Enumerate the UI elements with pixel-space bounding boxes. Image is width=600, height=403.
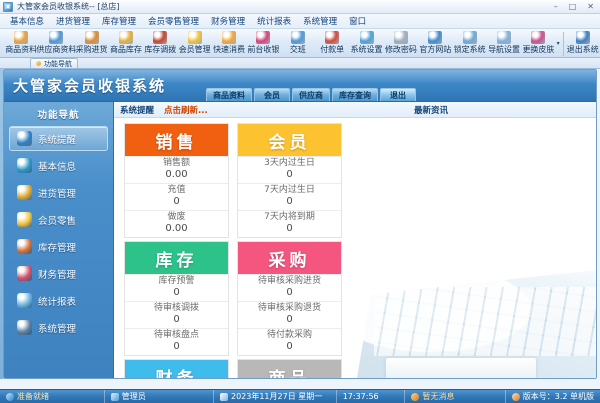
toolbar-button-1[interactable]: 供应商资料	[38, 30, 74, 55]
tile-row[interactable]: 7天内将到期0	[238, 210, 341, 237]
application-window: ▣ 大管家会员收银系统-- [总店] – □ ✕ 基本信息进货管理库存管理会员零…	[0, 0, 600, 403]
toolbar-label-8: 交班	[290, 44, 306, 55]
news-pane	[352, 118, 596, 378]
tile-row-label: 7天内将到期	[264, 212, 315, 223]
settings-icon	[360, 31, 374, 44]
tile-row-value: 0.00	[165, 169, 187, 181]
toolbar-label-4: 库存调拨	[144, 44, 176, 55]
maximize-button[interactable]: □	[569, 3, 577, 11]
globe-icon	[428, 31, 442, 44]
sidebar-item-label-5: 财务管理	[38, 267, 76, 281]
dashboard-panes: 销售销售额0.00充值0做废0.00会员3天内过生日07天内过生日07天内将到期…	[114, 118, 596, 378]
tile-row-value: 0.00	[165, 223, 187, 235]
database-icon	[17, 158, 32, 173]
sidebar-item-label-1: 基本信息	[38, 159, 76, 173]
main-toolbar: 商品资料供应商资料采购进货商品库存库存调拨会员管理快速消费前台收银交班付款单系统…	[0, 29, 600, 58]
sidebar-item-label-3: 会员零售	[38, 213, 76, 227]
tile-grid: 销售销售额0.00充值0做废0.00会员3天内过生日07天内过生日07天内将到期…	[124, 123, 352, 379]
toolbar-label-10: 系统设置	[351, 44, 383, 55]
sidebar-item-6[interactable]: 统计报表	[9, 288, 108, 313]
quick-sale-icon	[222, 31, 236, 44]
dashboard-tile-4[interactable]: 财务待审核收入0待审核支出0待审核付款0	[124, 359, 229, 379]
folder-in-icon	[17, 185, 32, 200]
toolbar-button-9[interactable]: 付款单	[315, 30, 349, 55]
status-date: 2023年11月27日 星期一	[214, 390, 337, 403]
tile-row-value: 0	[173, 341, 179, 353]
sidebar-item-label-0: 系统提醒	[38, 132, 76, 146]
content-area: 系统提醒 点击刷新... 最新资讯 销售销售额0.00充值0做废0.00会员3天…	[114, 102, 596, 378]
mdi-tab-icon	[36, 61, 41, 66]
news-label: 最新资讯	[414, 104, 448, 116]
member2-icon	[17, 212, 32, 227]
toolbar-button-11[interactable]: 修改密码	[384, 30, 418, 55]
toolbar-button-14[interactable]: 导航设置	[487, 30, 521, 55]
version-icon	[512, 393, 520, 401]
tile-title-2: 库存	[125, 242, 228, 274]
section-label: 系统提醒	[120, 104, 154, 116]
sidebar-item-5[interactable]: 财务管理	[9, 261, 108, 286]
toolbar-label-9: 付款单	[320, 44, 344, 55]
refresh-link[interactable]: 点击刷新...	[164, 104, 208, 116]
banner-tab-3[interactable]: 库存查询	[332, 88, 378, 101]
tile-row[interactable]: 3天内过生日0	[238, 156, 341, 183]
transfer-icon	[153, 31, 167, 44]
tile-row-label: 库存预警	[158, 276, 194, 287]
tile-row[interactable]: 待审核采购退货0	[238, 301, 341, 328]
status-user-text: 管理员	[122, 391, 146, 402]
tile-row[interactable]: 充值0	[125, 183, 228, 210]
toolbar-button-2[interactable]: 采购进货	[74, 30, 108, 55]
banner-tab-1[interactable]: 会员	[254, 88, 290, 101]
toolbar-label-13: 锁定系统	[454, 44, 486, 55]
skin-icon	[531, 31, 545, 44]
warehouse-icon	[17, 239, 32, 254]
toolbar-label-1: 供应商资料	[36, 44, 76, 55]
status-bar: 准备就绪 管理员 2023年11月27日 星期一 17:37:56 暂无消息 版…	[0, 389, 600, 403]
cashier-icon	[256, 31, 270, 44]
dashboard-tile-1[interactable]: 会员3天内过生日07天内过生日07天内将到期0	[237, 123, 342, 238]
tile-rows-3: 待审核采购进货0待审核采购退货0待付款采购0	[238, 274, 341, 355]
sidebar-item-label-2: 进货管理	[38, 186, 76, 200]
purchase-icon	[85, 31, 99, 44]
toolbar-label-11: 修改密码	[385, 44, 417, 55]
tile-title-0: 销售	[125, 124, 228, 156]
tile-row-value: 0	[286, 287, 292, 299]
content-toolbar: 系统提醒 点击刷新... 最新资讯	[114, 102, 596, 118]
payment-icon	[325, 31, 339, 44]
toolbar-button-12[interactable]: 官方网站	[418, 30, 452, 55]
toolbar-label-5: 会员管理	[179, 44, 211, 55]
menu-item-6[interactable]: 系统管理	[297, 14, 343, 28]
mdi-tab-strip: 功能导航	[0, 58, 600, 69]
user-icon	[111, 393, 119, 401]
sidebar-item-label-4: 库存管理	[38, 240, 76, 254]
mdi-tab-function-nav[interactable]: 功能导航	[30, 58, 78, 68]
tile-row-label: 3天内过生日	[264, 158, 315, 169]
tile-row-label: 做废	[167, 212, 185, 223]
sidebar-item-0[interactable]: 系统提醒	[9, 126, 108, 151]
toolbar-label-16: 退出系统	[567, 44, 599, 55]
toolbar-button-10[interactable]: 系统设置	[349, 30, 383, 55]
status-ready-text: 准备就绪	[17, 391, 49, 402]
minimize-button[interactable]: –	[554, 3, 558, 11]
status-date-text: 2023年11月27日 星期一	[231, 391, 322, 402]
tile-row-label: 7天内过生日	[264, 185, 315, 196]
status-user: 管理员	[105, 390, 214, 403]
toolbar-label-7: 前台收银	[247, 44, 279, 55]
toolbar-label-14: 导航设置	[488, 44, 520, 55]
page-title: 大管家会员收银系统	[4, 75, 166, 96]
toolbar-label-12: 官方网站	[419, 44, 451, 55]
status-version: 版本号：3.2 单机版	[506, 390, 600, 403]
tile-title-4: 财务	[125, 360, 228, 379]
mdi-tab-label: 功能导航	[44, 59, 72, 69]
nav-settings-icon	[497, 31, 511, 44]
tile-row-label: 销售额	[163, 158, 190, 169]
lock-icon	[463, 31, 477, 44]
tile-rows-0: 销售额0.00充值0做废0.00	[125, 156, 228, 237]
sidebar-item-1[interactable]: 基本信息	[9, 153, 108, 178]
toolbar-label-0: 商品资料	[5, 44, 37, 55]
finance-icon	[17, 266, 32, 281]
toolbar-separator	[563, 32, 564, 56]
toolbar-button-4[interactable]: 库存调拨	[143, 30, 177, 55]
status-time: 17:37:56	[337, 390, 406, 403]
exit-icon	[576, 31, 590, 44]
menu-item-0[interactable]: 基本信息	[4, 14, 50, 28]
status-time-text: 17:37:56	[343, 392, 379, 401]
tiles-container: 销售销售额0.00充值0做废0.00会员3天内过生日07天内过生日07天内将到期…	[114, 118, 352, 378]
close-button[interactable]: ✕	[587, 3, 594, 11]
keyboard-watermark-image	[356, 269, 596, 378]
stock-icon	[119, 31, 133, 44]
toolbar-button-15[interactable]: 更换皮肤	[521, 30, 555, 55]
toolbar-button-8[interactable]: 交班	[281, 30, 315, 55]
toolbar-label-15: 更换皮肤	[522, 44, 554, 55]
tile-row[interactable]: 待审核采购进货0	[238, 274, 341, 301]
tile-row-label: 待审核采购进货	[258, 276, 321, 287]
menu-bar: 基本信息进货管理库存管理会员零售管理财务管理统计报表系统管理窗口	[0, 14, 600, 29]
report-icon	[17, 293, 32, 308]
toolbar-button-16[interactable]: 退出系统	[566, 30, 600, 55]
window-controls: – □ ✕	[554, 0, 594, 14]
tile-row[interactable]: 做废0.00	[125, 210, 228, 237]
tile-row-value: 0	[286, 196, 292, 208]
banner-tabs: 商品资料会员供应商库存查询退出	[204, 88, 596, 101]
sidebar-item-4[interactable]: 库存管理	[9, 234, 108, 259]
tile-row-value: 0	[286, 169, 292, 181]
tile-rows-1: 3天内过生日07天内过生日07天内将到期0	[238, 156, 341, 237]
sidebar-item-7[interactable]: 系统管理	[9, 315, 108, 340]
tile-row[interactable]: 待付款采购0	[238, 328, 341, 355]
sidebar-item-label-6: 统计报表	[38, 294, 76, 308]
title-bar: ▣ 大管家会员收银系统-- [总店] – □ ✕	[0, 0, 600, 14]
toolbar-label-2: 采购进货	[76, 44, 108, 55]
toolbar-button-0[interactable]: 商品资料	[4, 30, 38, 55]
banner-tab-2[interactable]: 供应商	[292, 88, 330, 101]
skin-dropdown-caret[interactable]: ▾	[557, 40, 560, 47]
sidebar: 功能导航 系统提醒基本信息进货管理会员零售库存管理财务管理统计报表系统管理	[4, 102, 114, 378]
tile-row-value: 0	[173, 314, 179, 326]
tile-title-1: 会员	[238, 124, 341, 156]
function-nav-window: 大管家会员收银系统 ◀▶▪✕ 商品资料会员供应商库存查询退出 功能导航 系统提醒…	[3, 69, 597, 379]
sidebar-list: 系统提醒基本信息进货管理会员零售库存管理财务管理统计报表系统管理	[9, 126, 108, 340]
tile-row-value: 0	[286, 314, 292, 326]
tile-row-value: 0	[286, 341, 292, 353]
tile-row-value: 0	[173, 287, 179, 299]
tile-row-label: 待审核盘点	[154, 330, 199, 341]
toolbar-button-5[interactable]: 会员管理	[178, 30, 212, 55]
tile-row[interactable]: 库存预警0	[125, 274, 228, 301]
sidebar-item-3[interactable]: 会员零售	[9, 207, 108, 232]
toolbar-button-7[interactable]: 前台收银	[246, 30, 280, 55]
toolbar-label-6: 快速消费	[213, 44, 245, 55]
sidebar-item-label-7: 系统管理	[38, 321, 76, 335]
password-icon	[394, 31, 408, 44]
tile-title-3: 采购	[238, 242, 341, 274]
tile-row[interactable]: 销售额0.00	[125, 156, 228, 183]
tile-row-label: 待审核采购退货	[258, 303, 321, 314]
toolbar-button-6[interactable]: 快速消费	[212, 30, 246, 55]
tile-row[interactable]: 待审核盘点0	[125, 328, 228, 355]
menu-item-3[interactable]: 会员零售管理	[142, 14, 205, 28]
tile-row[interactable]: 待审核调拨0	[125, 301, 228, 328]
menu-item-1[interactable]: 进货管理	[50, 14, 96, 28]
goods-icon	[14, 31, 28, 44]
tile-row[interactable]: 7天内过生日0	[238, 183, 341, 210]
tile-row-value: 0	[173, 196, 179, 208]
status-message[interactable]: 暂无消息	[405, 390, 505, 403]
window-body: 功能导航 系统提醒基本信息进货管理会员零售库存管理财务管理统计报表系统管理 系统…	[4, 102, 596, 378]
tile-row-value: 0	[286, 223, 292, 235]
tile-title-5: 商品	[238, 360, 341, 379]
shift-icon	[291, 31, 305, 44]
sidebar-item-2[interactable]: 进货管理	[9, 180, 108, 205]
status-version-text: 版本号：3.2 单机版	[523, 391, 594, 402]
menu-item-4[interactable]: 财务管理	[205, 14, 251, 28]
banner-tab-4[interactable]: 退出	[380, 88, 416, 101]
message-icon	[411, 393, 419, 401]
info-icon	[17, 131, 32, 146]
status-ready: 准备就绪	[0, 390, 105, 403]
dashboard-tile-3[interactable]: 采购待审核采购进货0待审核采购退货0待付款采购0	[237, 241, 342, 356]
tile-rows-2: 库存预警0待审核调拨0待审核盘点0	[125, 274, 228, 355]
banner-tab-0[interactable]: 商品资料	[206, 88, 252, 101]
toolbar-button-3[interactable]: 商品库存	[109, 30, 143, 55]
menu-item-7[interactable]: 窗口	[343, 14, 372, 28]
calendar-icon	[220, 393, 228, 401]
dashboard-tile-0[interactable]: 销售销售额0.00充值0做废0.00	[124, 123, 229, 238]
ready-icon	[6, 393, 14, 401]
status-message-text: 暂无消息	[422, 391, 454, 402]
tile-row-label: 待审核调拨	[154, 303, 199, 314]
sidebar-title: 功能导航	[9, 106, 108, 122]
gears-icon	[17, 320, 32, 335]
app-banner: 大管家会员收银系统 ◀▶▪✕ 商品资料会员供应商库存查询退出	[4, 70, 596, 102]
menu-item-2[interactable]: 库存管理	[96, 14, 142, 28]
menu-item-5[interactable]: 统计报表	[251, 14, 297, 28]
tile-row-label: 待付款采购	[267, 330, 312, 341]
toolbar-label-3: 商品库存	[110, 44, 142, 55]
member-icon	[188, 31, 202, 44]
tile-row-label: 充值	[167, 185, 185, 196]
dashboard-tile-5[interactable]: 商品停用商品0滞销商品0	[237, 359, 342, 379]
app-icon: ▣	[3, 2, 13, 12]
window-title: 大管家会员收银系统-- [总店]	[17, 1, 120, 12]
toolbar-button-13[interactable]: 锁定系统	[453, 30, 487, 55]
dashboard-tile-2[interactable]: 库存库存预警0待审核调拨0待审核盘点0	[124, 241, 229, 356]
supplier-icon	[49, 31, 63, 44]
